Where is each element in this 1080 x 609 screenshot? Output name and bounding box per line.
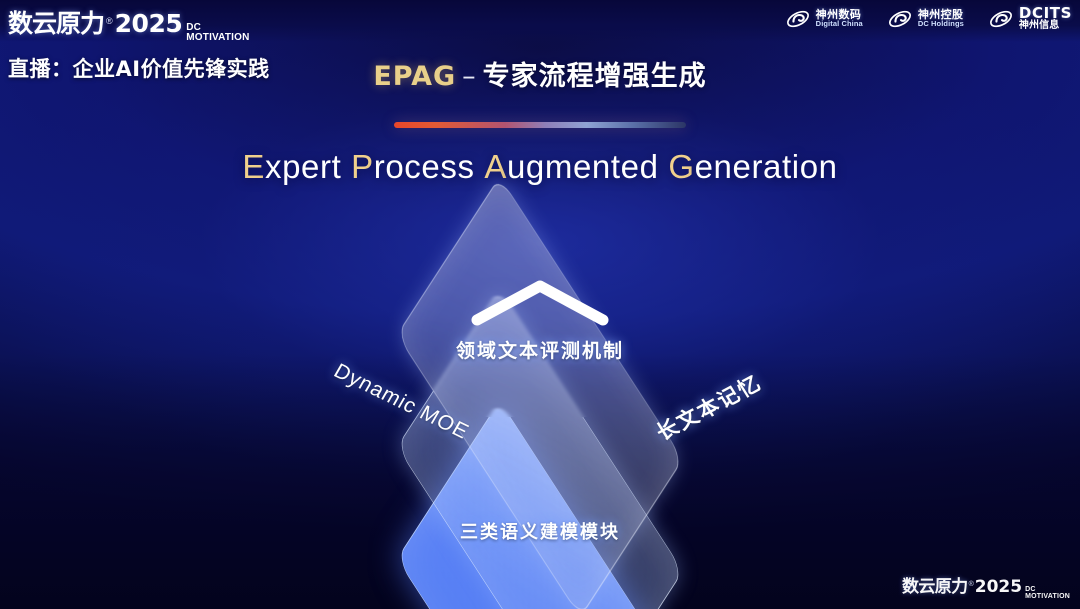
slide-title-dash: – — [456, 61, 483, 92]
slide-canvas: 数云原力 ® 2025 DC MOTIVATION 直播：企业AI价值先锋实践 … — [0, 0, 1080, 609]
diagram-label-middle-right: 长文本记忆 — [650, 367, 767, 446]
partner-name-en: Digital China — [816, 20, 863, 28]
partner-name-en: DC Holdings — [918, 20, 964, 28]
brand-logo-tagline: DC MOTIVATION — [186, 23, 249, 42]
brand-logo-tagline-line2: MOTIVATION — [186, 33, 249, 43]
brand-logo-registered-mark: ® — [106, 16, 113, 26]
title-divider — [394, 122, 686, 128]
subtitle-initial-p: P — [351, 148, 374, 185]
diagram-label-bottom: 三类语义建模模块 — [460, 518, 620, 544]
diagram-label-top: 领域文本评测机制 — [456, 336, 624, 363]
layered-architecture-diagram: 领域文本评测机制 Dynamic MOE 长文本记忆 三类语义建模模块 — [280, 232, 800, 562]
slide-title-acronym: EPAG — [373, 61, 456, 92]
subtitle-initial-g: G — [668, 148, 694, 185]
partner-name-cn: DCITS — [1019, 6, 1072, 21]
swirl-logo-icon — [988, 7, 1014, 31]
partner-name-en: 神州信息 — [1019, 21, 1072, 31]
subtitle-initial-a: A — [484, 148, 507, 185]
footer-watermark-logo: 数云原力 ® 2025 DC MOTIVATION — [902, 572, 1070, 601]
partner-logo-digital-china: 神州数码 Digital China — [785, 7, 863, 31]
subtitle-initial-e: E — [242, 148, 265, 185]
subtitle-word-generation: eneration — [695, 148, 838, 185]
subtitle-word-expert: xpert — [265, 148, 341, 185]
subtitle-word-augmented: ugmented — [507, 148, 659, 185]
partner-logo-dcits: DCITS 神州信息 — [988, 6, 1072, 31]
watermark-tagline-line2: MOTIVATION — [1025, 594, 1070, 600]
partner-logo-group: 神州数码 Digital China 神州控股 DC Holdings DCIT… — [785, 6, 1072, 31]
partner-logo-text: DCITS 神州信息 — [1019, 6, 1072, 31]
partner-logo-text: 神州数码 Digital China — [816, 9, 863, 28]
watermark-registered-mark: ® — [969, 581, 974, 588]
brand-logo-year: 2025 — [115, 9, 183, 38]
brand-logo: 数云原力 ® 2025 DC MOTIVATION — [8, 4, 250, 44]
swirl-logo-icon — [785, 7, 811, 31]
slide-title-chinese: 专家流程增强生成 — [483, 61, 707, 92]
slide-subtitle: Expert Process Augmented Generation — [0, 148, 1080, 186]
brand-logo-chinese: 数云原力 — [8, 4, 104, 40]
swirl-logo-icon — [887, 7, 913, 31]
watermark-chinese: 数云原力 — [902, 572, 968, 597]
watermark-year: 2025 — [975, 577, 1022, 597]
partner-logo-dc-holdings: 神州控股 DC Holdings — [887, 7, 964, 31]
live-session-label: 直播：企业AI价值先锋实践 — [8, 53, 270, 83]
watermark-tagline: DC MOTIVATION — [1025, 587, 1070, 600]
partner-logo-text: 神州控股 DC Holdings — [918, 9, 964, 28]
subtitle-word-process: rocess — [374, 148, 475, 185]
